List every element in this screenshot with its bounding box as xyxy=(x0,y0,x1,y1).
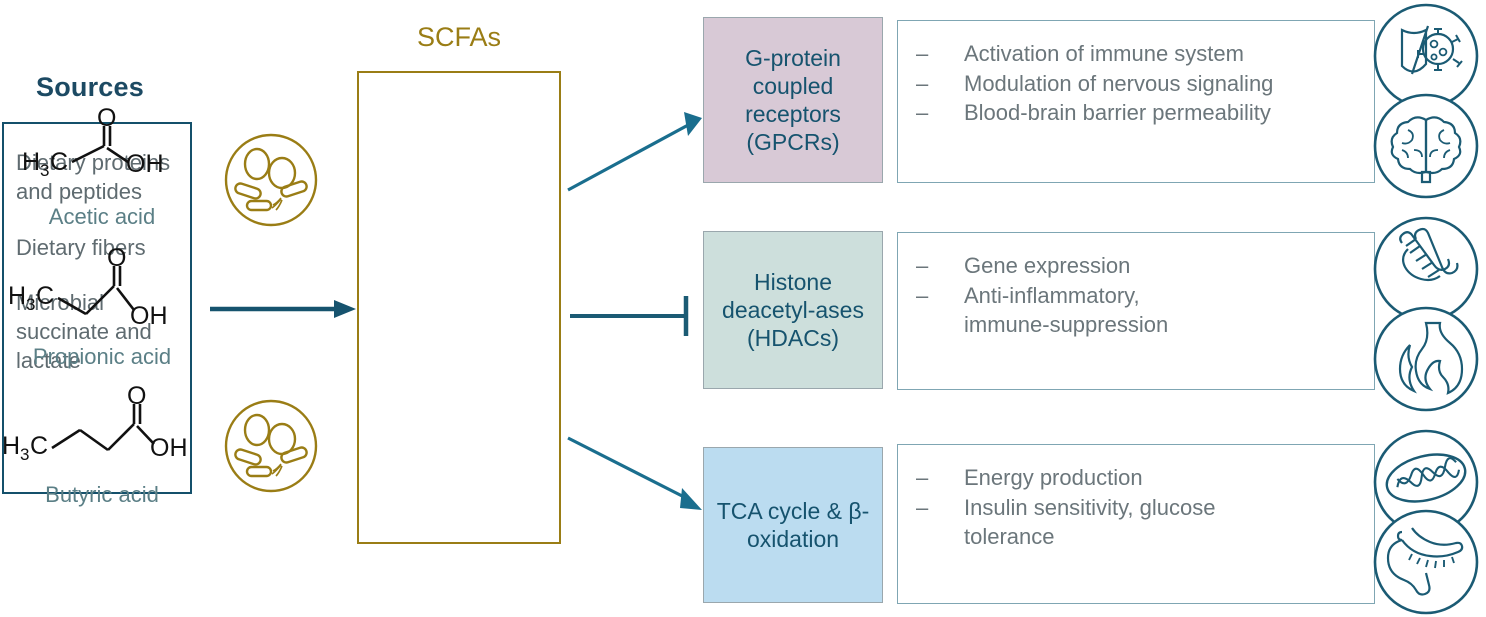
effect-text: Blood-brain barrier permeability xyxy=(964,98,1374,128)
target-box-hdac[interactable]: Histone deacetyl-ases (HDACs) xyxy=(703,231,883,389)
svg-text:C: C xyxy=(50,148,68,176)
svg-text:OH: OH xyxy=(150,434,188,462)
svg-text:O: O xyxy=(107,244,126,272)
inhibition-scfas-to-hdac xyxy=(568,294,696,338)
molecule-label-acetic-acid: Acetic acid xyxy=(0,204,204,230)
bullet-marker: – xyxy=(916,69,964,99)
acetic-acid-structure: H 3 C O OH xyxy=(0,112,204,202)
svg-text:H: H xyxy=(2,432,20,460)
target-box-tca[interactable]: TCA cycle & β-oxidation xyxy=(703,447,883,603)
scfas-box xyxy=(357,71,561,544)
effects-panel-tca: – Energy production – Insulin sensitivit… xyxy=(897,444,1375,604)
svg-text:O: O xyxy=(97,104,116,132)
bullet-marker: – xyxy=(916,463,964,493)
effect-text: Insulin sensitivity, glucose tolerance xyxy=(964,493,1249,552)
scfas-heading: SCFAs xyxy=(357,22,561,53)
molecule-label-butyric-acid: Butyric acid xyxy=(0,482,204,508)
svg-text:OH: OH xyxy=(126,150,164,178)
list-item: – Blood-brain barrier permeability xyxy=(916,98,1374,128)
molecule-butyric-acid: H 3 C O OH Butyric acid xyxy=(0,390,204,508)
effect-text: Energy production xyxy=(964,463,1374,493)
list-item: – Energy production xyxy=(916,463,1374,493)
bullet-marker: – xyxy=(916,98,964,128)
svg-text:C: C xyxy=(30,432,48,460)
arrow-scfas-to-tca xyxy=(566,428,706,518)
svg-text:3: 3 xyxy=(20,445,29,464)
pancreas-icon xyxy=(1372,508,1480,616)
effect-text: Anti-inflammatory, immune-suppression xyxy=(964,281,1214,340)
bacteria-icon-top xyxy=(223,132,319,228)
svg-text:C: C xyxy=(36,282,54,310)
diagram-canvas: Sources Dietary proteins and peptides Di… xyxy=(0,0,1486,617)
effect-text: Modulation of nervous signaling xyxy=(964,69,1374,99)
brain-icon xyxy=(1372,92,1480,200)
effect-text: Activation of immune system xyxy=(964,39,1374,69)
svg-text:O: O xyxy=(127,382,146,410)
bullet-marker: – xyxy=(916,493,964,552)
svg-text:OH: OH xyxy=(130,302,168,330)
molecule-propionic-acid: H 3 C O OH Propionic acid xyxy=(0,252,204,370)
arrow-sources-to-scfas xyxy=(208,296,358,322)
svg-text:H: H xyxy=(22,148,40,176)
butyric-acid-structure: H 3 C O OH xyxy=(0,390,204,480)
bullet-marker: – xyxy=(916,251,964,281)
list-item: – Gene expression xyxy=(916,251,1374,281)
bullet-marker: – xyxy=(916,281,964,340)
molecule-label-propionic-acid: Propionic acid xyxy=(0,344,204,370)
bullet-marker: – xyxy=(916,39,964,69)
list-item: – Activation of immune system xyxy=(916,39,1374,69)
molecule-acetic-acid: H 3 C O OH Acetic acid xyxy=(0,112,204,230)
arrow-scfas-to-gpcr xyxy=(566,110,706,200)
effects-panel-hdac: – Gene expression – Anti-inflammatory, i… xyxy=(897,232,1375,390)
bacteria-icon-bottom xyxy=(223,398,319,494)
list-item: – Modulation of nervous signaling xyxy=(916,69,1374,99)
propionic-acid-structure: H 3 C O OH xyxy=(0,252,204,342)
svg-text:H: H xyxy=(8,282,26,310)
flame-icon xyxy=(1372,305,1480,413)
effect-text: Gene expression xyxy=(964,251,1374,281)
svg-text:3: 3 xyxy=(26,295,35,314)
list-item: – Insulin sensitivity, glucose tolerance xyxy=(916,493,1374,552)
effects-panel-gpcr: – Activation of immune system – Modulati… xyxy=(897,20,1375,183)
list-item: – Anti-inflammatory, immune-suppression xyxy=(916,281,1374,340)
svg-text:3: 3 xyxy=(40,161,49,180)
sources-heading: Sources xyxy=(36,72,144,103)
target-box-gpcr[interactable]: G-protein coupled receptors (GPCRs) xyxy=(703,17,883,183)
